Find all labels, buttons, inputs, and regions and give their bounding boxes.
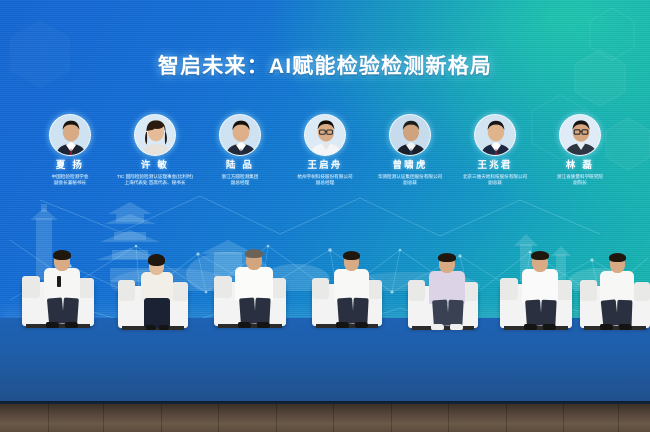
- panelist-org: 浙江方圆检测集团 副总经理: [198, 174, 282, 187]
- panelist-org-line2: 副总经理: [283, 180, 367, 186]
- panelist-org-line2: 副院长: [538, 180, 622, 186]
- panelist-org-line1: 杭州宇树科技股份有限公司: [297, 174, 352, 179]
- panelist-card: 许 敏 TIC 国际检验检测认证理事会(比利时) 上海代表处 首席代表、秘书长: [113, 114, 197, 187]
- panelist-name: 林 磊: [538, 160, 622, 172]
- panelist-org-line2: 副会长兼秘书长: [28, 180, 112, 186]
- panelist-org: TIC 国际检验检测认证理事会(比利时) 上海代表处 首席代表、秘书长: [113, 174, 197, 187]
- panelist-org-line2: 副总裁: [368, 180, 452, 186]
- seated-person: [214, 248, 302, 334]
- avatar: [304, 114, 346, 156]
- panelist-org-line1: 华测检测认证集团股份有限公司: [378, 174, 442, 179]
- panelist-name: 许 敏: [113, 160, 197, 172]
- seated-person: [118, 252, 204, 334]
- seated-person: [576, 252, 650, 336]
- avatar: [474, 114, 516, 156]
- avatar: [49, 114, 91, 156]
- panelist-card: 陆 品 浙江方圆检测集团 副总经理: [198, 114, 282, 187]
- panelist-org-line1: 中国检验检测学会: [52, 174, 89, 179]
- seated-person: [408, 252, 494, 336]
- panelist-name: 陆 品: [198, 160, 282, 172]
- avatar: [389, 114, 431, 156]
- panelist-org-line2: 副总经理: [198, 180, 282, 186]
- panelist-org: 杭州宇树科技股份有限公司 副总经理: [283, 174, 367, 187]
- panelist-card: 王启舟 杭州宇树科技股份有限公司 副总经理: [283, 114, 367, 187]
- conference-stage-photo: 智启未来：AI赋能检验检测新格局 夏 扬 中国检验检测学会 副会长兼秘书长 许 …: [0, 0, 650, 432]
- panelist-name: 曾啸虎: [368, 160, 452, 172]
- panelist-card: 王兆君 北京三维天地科技股份有限公司 副总裁: [453, 114, 537, 187]
- panelist-org-line1: 浙江方圆检测集团: [222, 174, 259, 179]
- panelist-name: 王兆君: [453, 160, 537, 172]
- panelist-org: 北京三维天地科技股份有限公司 副总裁: [453, 174, 537, 187]
- panelist-org-line2: 副总裁: [453, 180, 537, 186]
- panelist-org: 中国检验检测学会 副会长兼秘书长: [28, 174, 112, 187]
- handheld-microphone: [57, 276, 61, 287]
- panelist-card: 夏 扬 中国检验检测学会 副会长兼秘书长: [28, 114, 112, 187]
- main-title: 智启未来：AI赋能检验检测新格局: [158, 50, 492, 80]
- panelist-card: 曾啸虎 华测检测认证集团股份有限公司 副总裁: [368, 114, 452, 187]
- panelist-org-line1: 北京三维天地科技股份有限公司: [463, 174, 527, 179]
- title-area: 智启未来：AI赋能检验检测新格局: [0, 50, 650, 80]
- seated-person: [22, 248, 108, 334]
- avatar: [219, 114, 261, 156]
- seated-person: [312, 250, 398, 334]
- panelist-org-line1: TIC 国际检验检测认证理事会(比利时): [117, 174, 193, 179]
- panelist-org: 浙江省质量科学研究院 副院长: [538, 174, 622, 187]
- avatar: [134, 114, 176, 156]
- panelist-card: 林 磊 浙江省质量科学研究院 副院长: [538, 114, 622, 187]
- panelist-name: 王启舟: [283, 160, 367, 172]
- panelist-org-line2: 上海代表处 首席代表、秘书长: [113, 180, 197, 186]
- panelist-name: 夏 扬: [28, 160, 112, 172]
- panelist-org-line1: 浙江省质量科学研究院: [557, 174, 603, 179]
- panelist-org: 华测检测认证集团股份有限公司 副总裁: [368, 174, 452, 187]
- stage-wooden-floor: [0, 404, 650, 432]
- panelist-strip: 夏 扬 中国检验检测学会 副会长兼秘书长 许 敏 TIC 国际检验检测认证理事会…: [28, 114, 622, 196]
- seated-person: [500, 250, 588, 336]
- avatar: [559, 114, 601, 156]
